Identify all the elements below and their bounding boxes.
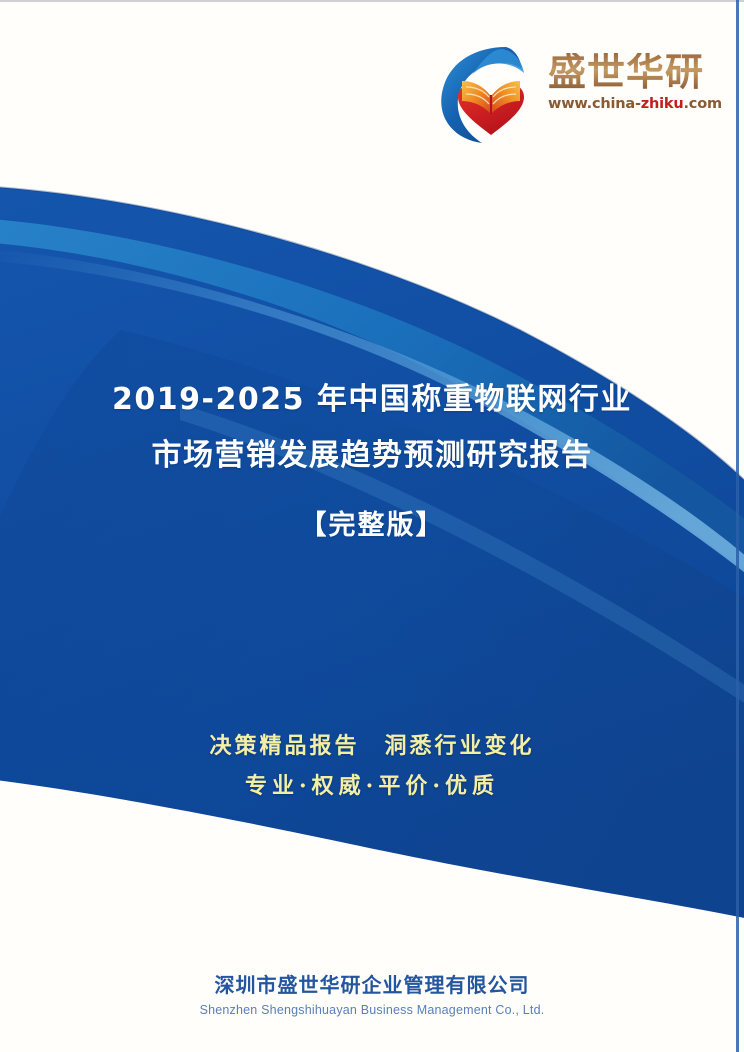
report-cover-page: 盛世华研 www.china-zhiku.com 2019-2025 年中国称重… xyxy=(0,0,744,1052)
top-hairline-divider xyxy=(0,0,744,2)
brand-name-cn: 盛世华研 xyxy=(548,53,720,91)
swoosh-book-heart-icon xyxy=(436,37,546,147)
url-highlight: zhiku xyxy=(641,96,684,112)
publisher-name-cn: 深圳市盛世华研企业管理有限公司 xyxy=(0,972,744,998)
slogan-line-1: 决策精品报告 洞悉行业变化 xyxy=(0,726,744,766)
publisher-footer: 深圳市盛世华研企业管理有限公司 Shenzhen Shengshihuayan … xyxy=(0,972,744,1019)
slogan-block: 决策精品报告 洞悉行业变化 专业·权威·平价·优质 xyxy=(0,726,744,806)
report-edition-badge: 【完整版】 xyxy=(0,506,744,546)
brand-logo: 盛世华研 www.china-zhiku.com xyxy=(436,33,722,151)
url-suffix: .com xyxy=(683,96,721,112)
report-title-line-1: 2019-2025 年中国称重物联网行业 xyxy=(0,372,744,428)
slogan-line-2: 专业·权威·平价·优质 xyxy=(0,766,744,806)
brand-website-url: www.china-zhiku.com xyxy=(548,96,720,112)
publisher-name-en: Shenzhen Shengshihuayan Business Managem… xyxy=(0,1002,744,1019)
report-title-line-2: 市场营销发展趋势预测研究报告 xyxy=(0,428,744,484)
brand-logo-text: 盛世华研 www.china-zhiku.com xyxy=(548,53,720,112)
report-title-block: 2019-2025 年中国称重物联网行业 市场营销发展趋势预测研究报告 【完整版… xyxy=(0,372,744,546)
url-prefix: www.china- xyxy=(548,96,641,112)
